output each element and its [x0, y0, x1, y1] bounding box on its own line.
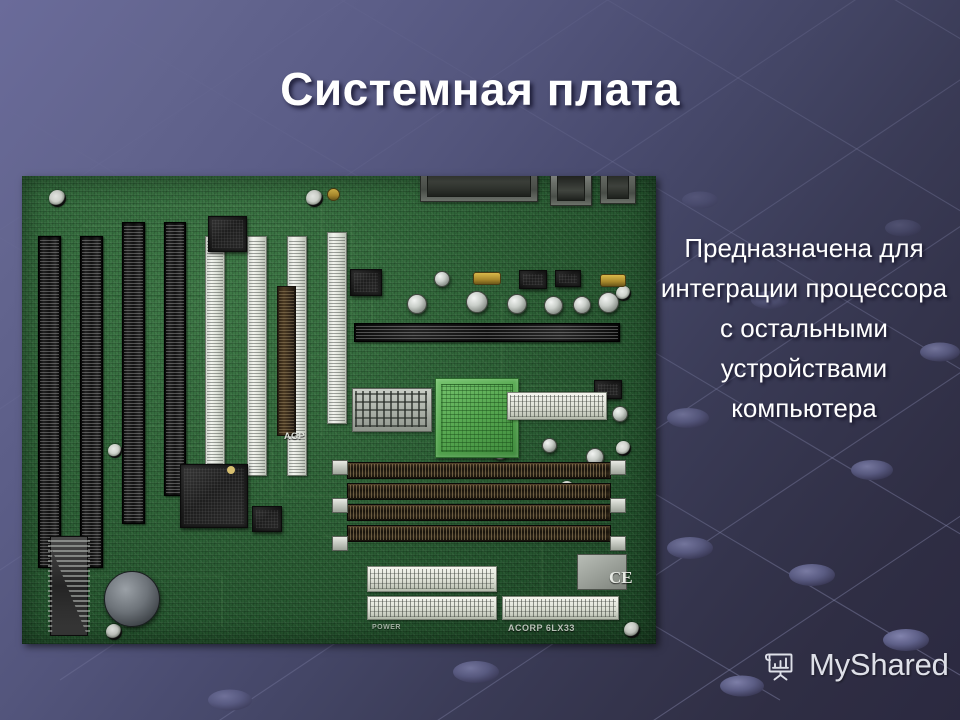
riser-slot [354, 323, 620, 342]
dimm-latch [332, 536, 348, 551]
capacitor [542, 438, 557, 453]
dip-bios-chip [50, 536, 88, 636]
isa-slot [122, 222, 145, 524]
dimm-latch [610, 536, 626, 551]
ide-connector-secondary [367, 596, 497, 620]
mounting-hole [49, 190, 66, 207]
mounting-hole [108, 444, 122, 458]
inductor [473, 272, 501, 285]
agp-slot [277, 286, 296, 436]
capacitor [612, 406, 628, 422]
dimm-slot [347, 525, 611, 542]
capacitor [544, 296, 563, 315]
pci-slot [327, 232, 347, 424]
isa-slot [38, 236, 61, 568]
board-model-silkscreen: ACORP 6LX33 [508, 623, 575, 633]
capacitor [507, 294, 527, 314]
small-ic-chip [252, 506, 282, 532]
serial-port-connector-2 [600, 176, 636, 204]
presentation-chart-icon [762, 646, 800, 684]
floppy-connector [502, 596, 619, 620]
dimm-slot [347, 483, 611, 500]
ce-mark-silkscreen: CE [609, 568, 633, 588]
motherboard-image: AGP [22, 176, 656, 644]
serial-port-connector-1 [550, 176, 592, 206]
small-ic-chip [555, 270, 581, 287]
capacitor [407, 294, 427, 314]
pci-slot [247, 236, 267, 476]
parallel-port-connector [420, 176, 538, 202]
dimm-latch [332, 460, 348, 475]
bios-chip [208, 216, 247, 252]
slide-body-text: Предназначена для интеграции процессора … [660, 228, 948, 428]
atx-power-connector [507, 392, 607, 420]
dimm-latch [332, 498, 348, 513]
mounting-hole [306, 190, 323, 207]
inductor [600, 274, 626, 287]
small-ic-chip [519, 270, 547, 289]
isa-slot [164, 222, 186, 496]
slide-title: Системная плата [0, 62, 960, 116]
chipset-pin1-mark [227, 466, 235, 474]
dimm-slot [347, 504, 611, 521]
mounting-hole [106, 624, 122, 640]
power-label-silkscreen: POWER [372, 624, 401, 631]
watermark-label: MyShared [809, 647, 949, 683]
agp-silkscreen-label: AGP [284, 431, 305, 441]
ide-connector-primary [367, 566, 497, 592]
motherboard-pcb: AGP [22, 176, 656, 644]
cmos-battery [104, 571, 160, 627]
capacitor [434, 271, 450, 287]
presentation-slide: Системная плата [0, 0, 960, 720]
mounting-hole [616, 441, 631, 456]
capacitor [466, 291, 488, 313]
pin-header-grid [355, 391, 427, 427]
capacitor [598, 292, 619, 313]
resistor-pack [327, 188, 340, 201]
capacitor [573, 296, 591, 314]
mounting-hole [624, 622, 640, 638]
dimm-slot [347, 462, 611, 479]
myshared-watermark[interactable]: MyShared [762, 646, 949, 684]
dimm-latch [610, 498, 626, 513]
pci-slot [205, 236, 225, 476]
dimm-latch [610, 460, 626, 475]
isa-slot [80, 236, 103, 568]
voltage-regulator [350, 269, 382, 296]
chipset-ic [180, 464, 248, 528]
